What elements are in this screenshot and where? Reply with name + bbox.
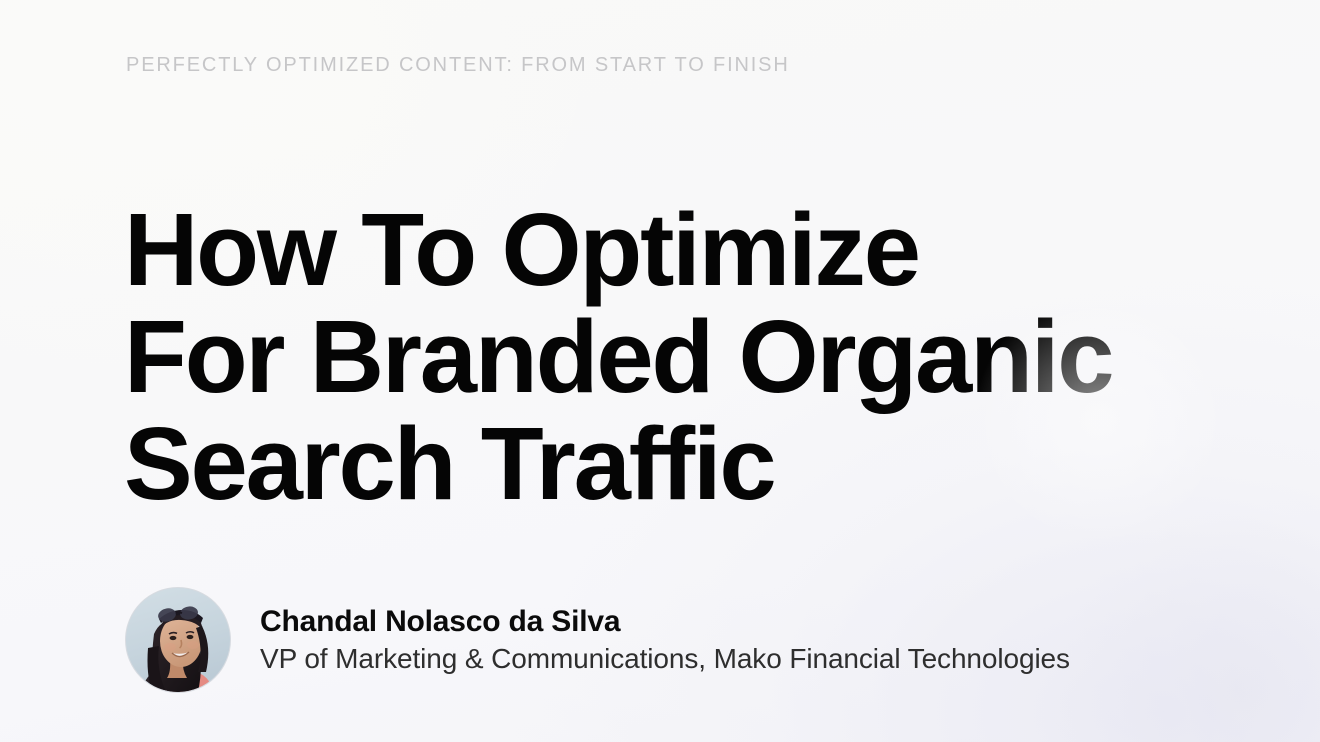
speaker-block: Chandal Nolasco da Silva VP of Marketing…: [126, 588, 1070, 692]
headline-line-1: How To Optimize: [124, 196, 1184, 303]
speaker-role: VP of Marketing & Communications, Mako F…: [260, 641, 1070, 677]
slide-headline: How To Optimize For Branded Organic Sear…: [124, 196, 1184, 517]
avatar: [126, 588, 230, 692]
presentation-slide: PERFECTLY OPTIMIZED CONTENT: FROM START …: [0, 0, 1320, 742]
speaker-text-block: Chandal Nolasco da Silva VP of Marketing…: [260, 603, 1070, 677]
headline-line-3: Search Traffic: [124, 410, 1184, 517]
speaker-name: Chandal Nolasco da Silva: [260, 603, 1070, 641]
speaker-portrait-icon: [126, 588, 230, 692]
headline-line-2: For Branded Organic: [124, 303, 1184, 410]
slide-eyebrow-label: PERFECTLY OPTIMIZED CONTENT: FROM START …: [126, 52, 790, 78]
